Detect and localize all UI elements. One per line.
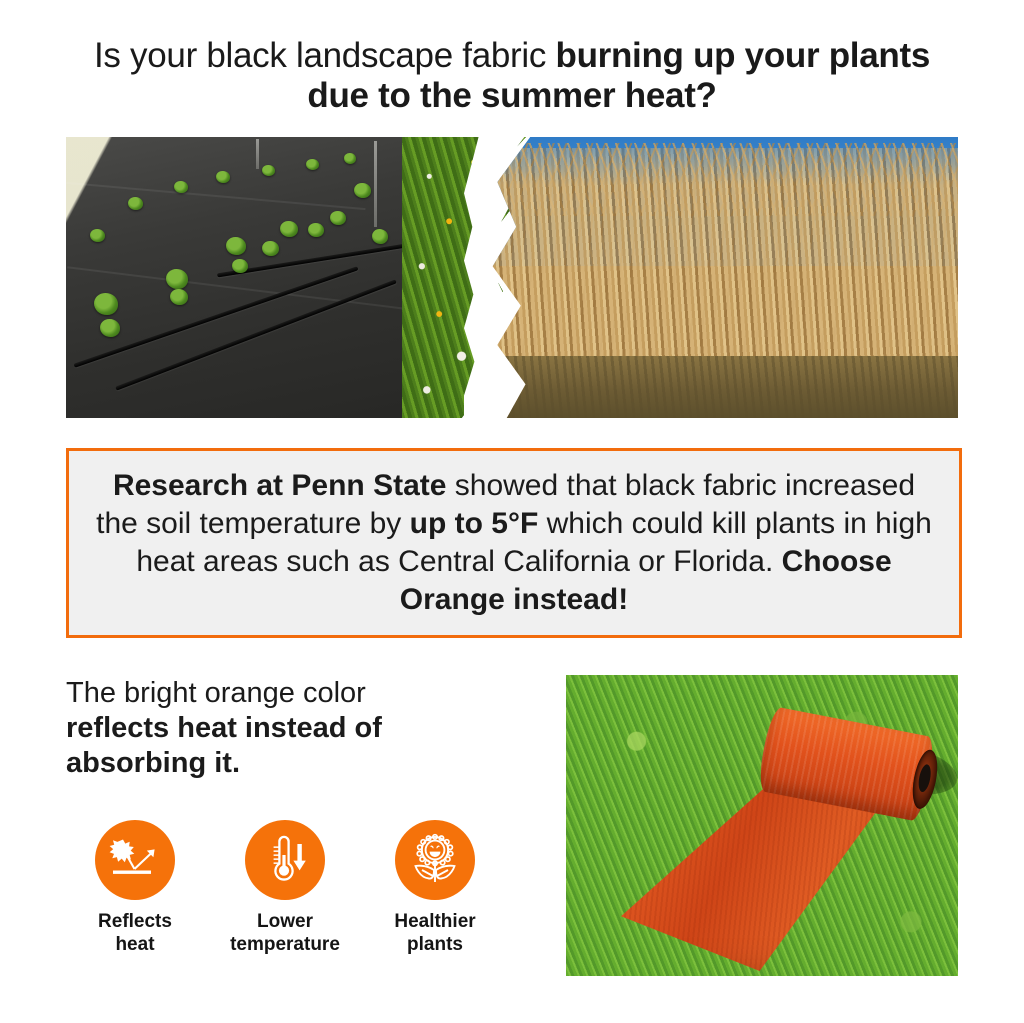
- badge-lower-temperature: Lower temperature: [210, 820, 360, 956]
- orange-fabric-roll-photo: [566, 675, 958, 976]
- benefit-light-line: The bright orange color: [66, 677, 366, 709]
- badge-label: Reflects heat: [60, 910, 210, 956]
- benefit-text: The bright orange color reflects heat in…: [66, 676, 506, 781]
- benefit-period: .: [232, 747, 240, 779]
- page-headline: Is your black landscape fabric burning u…: [62, 36, 962, 116]
- healthy-sunflower-icon: [407, 832, 463, 888]
- headline-light-text: Is your black landscape fabric: [94, 36, 556, 75]
- badge-reflects-heat: Reflects heat: [60, 820, 210, 956]
- badge-circle: [245, 820, 325, 900]
- sun-reflect-icon: [107, 832, 163, 888]
- benefit-strong-line: reflects heat instead of absorbing it: [66, 712, 382, 779]
- black-fabric-photo: [66, 137, 526, 418]
- infographic-page: Is your black landscape fabric burning u…: [0, 0, 1024, 1023]
- corn-stalks: [488, 148, 958, 378]
- badge-label: Lower temperature: [210, 910, 360, 956]
- badge-label: Healthier plants: [360, 910, 510, 956]
- badge-healthier-plants: Healthier plants: [360, 820, 510, 956]
- benefit-badge-row: Reflects heat: [60, 820, 530, 956]
- thermometer-down-icon: [257, 832, 313, 888]
- dried-corn-photo: [488, 137, 958, 418]
- badge-circle: [95, 820, 175, 900]
- research-callout-box: Research at Penn State showed that black…: [66, 448, 962, 638]
- badge-circle: [395, 820, 475, 900]
- penn-state-highlight: Research at Penn State: [113, 469, 446, 502]
- comparison-photo-strip: [66, 137, 958, 418]
- research-callout-text: Research at Penn State showed that black…: [96, 467, 932, 619]
- temperature-highlight: up to 5°F: [410, 507, 539, 540]
- dry-ground: [488, 356, 958, 418]
